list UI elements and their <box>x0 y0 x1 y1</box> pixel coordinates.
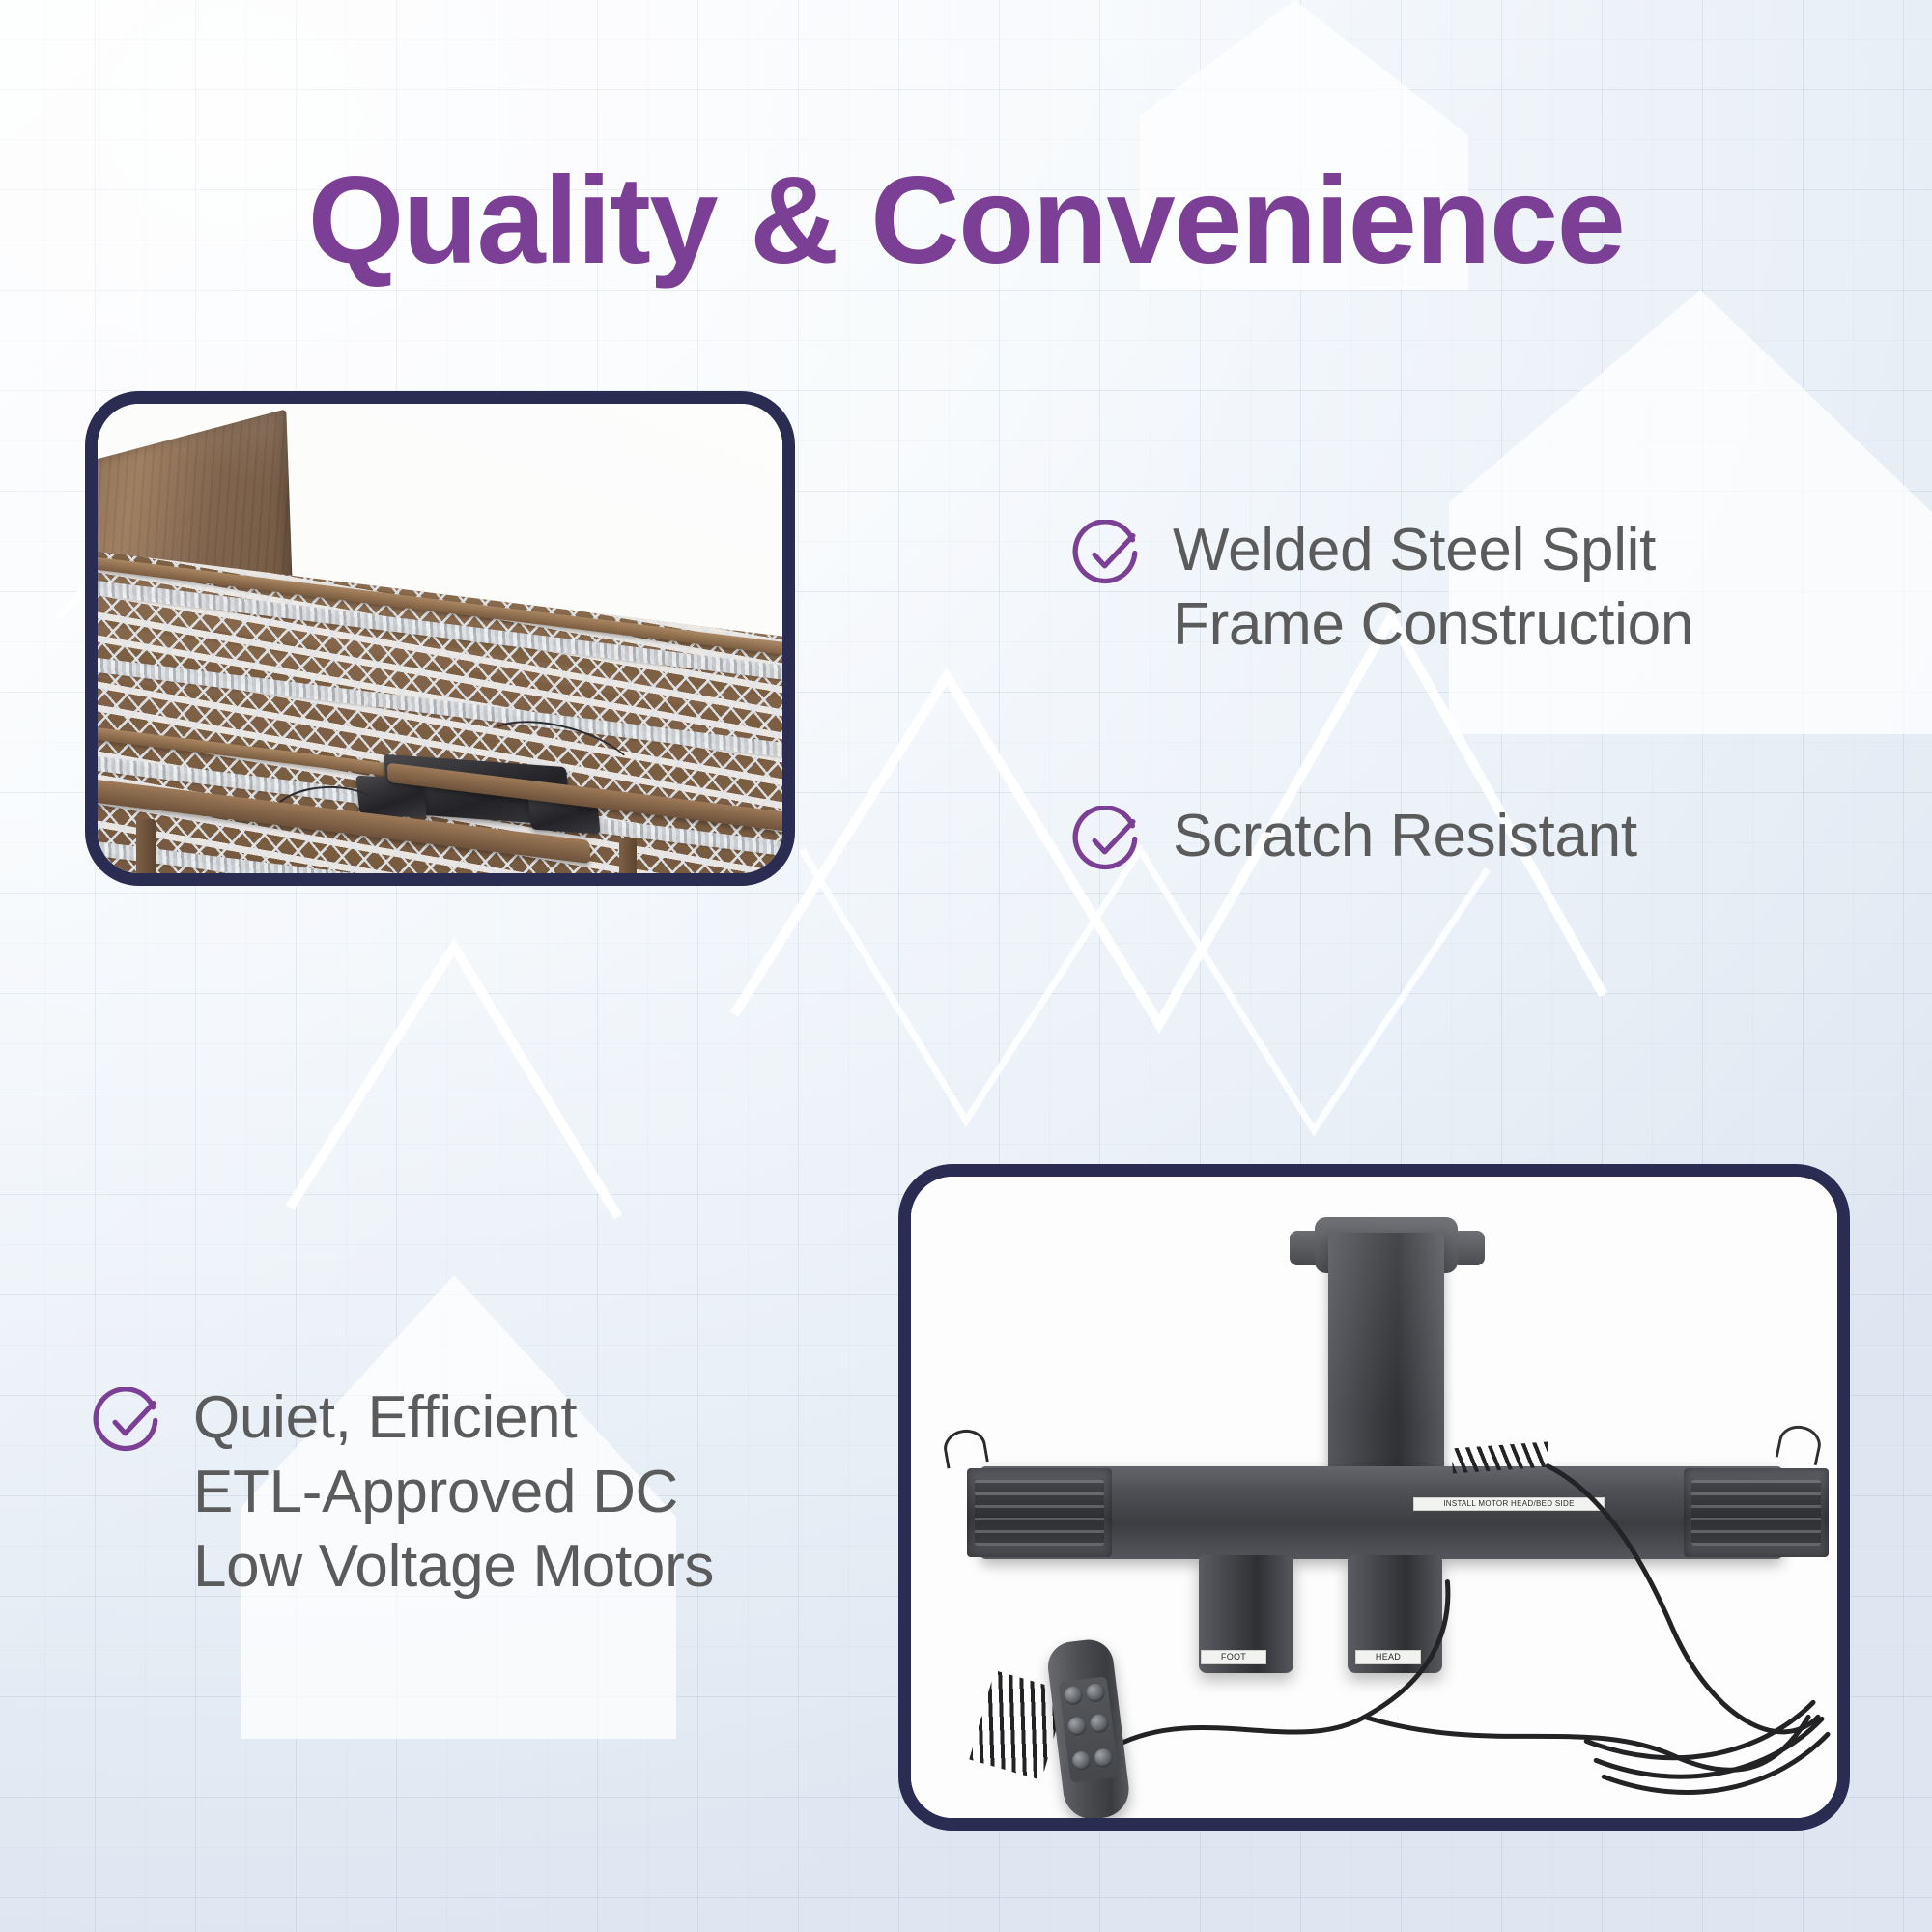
motor-photo-card: INSTALL MOTOR HEAD/BED SIDE FOOT HEAD <box>898 1164 1850 1831</box>
feature-label: Scratch Resistant <box>1173 800 1637 874</box>
check-circle-icon <box>1072 520 1144 596</box>
motor-photo-inner: INSTALL MOTOR HEAD/BED SIDE FOOT HEAD <box>911 1177 1837 1818</box>
check-circle-icon <box>93 1387 164 1463</box>
remote-button-3[interactable] <box>1066 1716 1087 1736</box>
remote-button-1[interactable] <box>1063 1686 1083 1706</box>
check-circle-icon <box>1072 806 1144 882</box>
feature-item-quiet-motors: Quiet, Efficient ETL-Approved DC Low Vol… <box>93 1381 885 1605</box>
frame-leg-right <box>619 838 637 873</box>
feature-item-scratch-resistant: Scratch Resistant <box>1072 800 1884 882</box>
motor-assembly-illustration: INSTALL MOTOR HEAD/BED SIDE FOOT HEAD <box>911 1177 1837 1818</box>
bed-frame-illustration <box>98 404 782 873</box>
remote-button-2[interactable] <box>1085 1683 1105 1703</box>
motor-cable-paths <box>911 1177 1837 1818</box>
remote-button-panel <box>1059 1676 1119 1782</box>
feature-label: Quiet, Efficient ETL-Approved DC Low Vol… <box>193 1381 714 1605</box>
remote-button-4[interactable] <box>1089 1714 1109 1734</box>
feature-label: Welded Steel Split Frame Construction <box>1173 514 1693 663</box>
remote-button-5[interactable] <box>1071 1750 1092 1771</box>
remote-button-6[interactable] <box>1094 1747 1114 1768</box>
feature-item-welded-steel: Welded Steel Split Frame Construction <box>1072 514 1884 663</box>
frame-leg-left <box>136 819 156 873</box>
bed-frame-photo-card <box>85 391 795 886</box>
page-title: Quality & Convenience <box>0 158 1932 285</box>
bed-frame-photo-inner <box>98 404 782 873</box>
